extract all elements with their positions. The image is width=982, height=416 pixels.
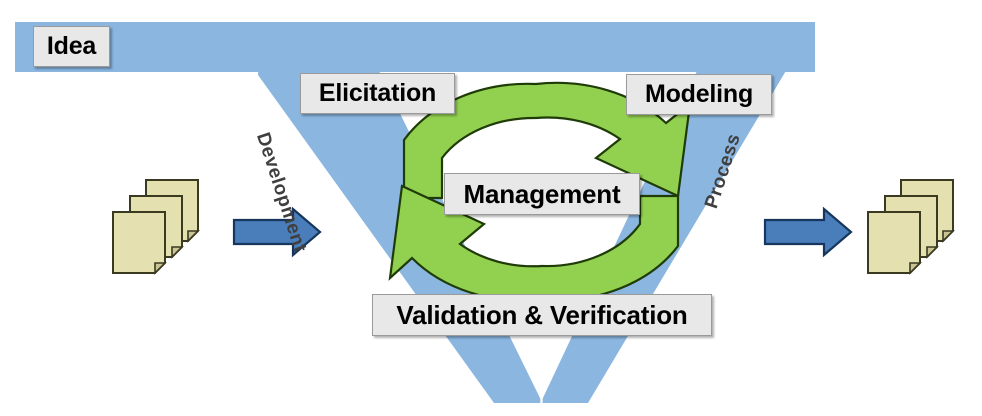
document-sheet-back-fold: [188, 231, 198, 241]
idea-band: [15, 22, 815, 72]
document-sheet-front-fold: [155, 263, 165, 273]
diagram-canvas: Development Process Idea Elicitation Mod…: [0, 0, 982, 416]
output-flow-arrow: [765, 209, 851, 255]
input-document-stack: [113, 180, 198, 273]
stage-label-elicitation[interactable]: Elicitation: [300, 73, 455, 114]
stage-label-modeling[interactable]: Modeling: [626, 74, 772, 115]
stage-label-management[interactable]: Management: [444, 173, 640, 215]
document-sheet-front-fold: [910, 263, 920, 273]
document-sheet-middle-fold: [927, 247, 937, 257]
document-sheet-middle-fold: [172, 247, 182, 257]
stage-label-validation-verification[interactable]: Validation & Verification: [372, 294, 712, 336]
stage-label-idea[interactable]: Idea: [33, 26, 110, 67]
document-sheet-back-fold: [943, 231, 953, 241]
output-document-stack: [868, 180, 953, 273]
